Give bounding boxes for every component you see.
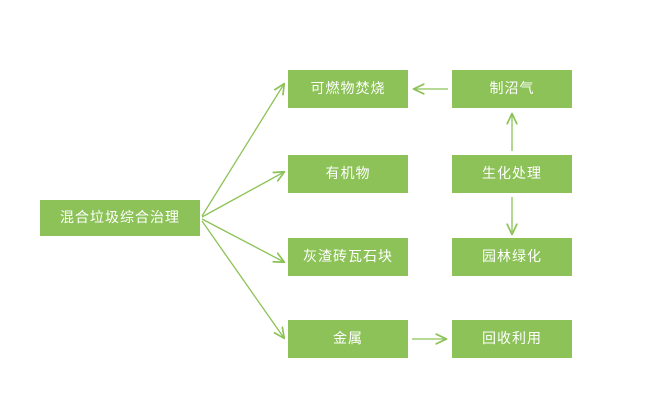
edge-root-to-combustible — [202, 84, 284, 216]
node-biogas-production[interactable]: 制沼气 — [452, 70, 572, 108]
node-recycling-reuse[interactable]: 回收利用 — [452, 320, 572, 358]
node-mixed-waste-treatment[interactable]: 混合垃圾综合治理 — [40, 200, 200, 236]
edge-root-to-ash-brick — [202, 219, 284, 262]
node-combustible-incineration[interactable]: 可燃物焚烧 — [288, 70, 408, 108]
node-ash-brick-tile-stone[interactable]: 灰渣砖瓦石块 — [288, 238, 408, 276]
edge-root-to-metal — [202, 221, 284, 338]
node-metal[interactable]: 金属 — [288, 320, 408, 358]
diagram-canvas: 混合垃圾综合治理 可燃物焚烧 制沼气 有机物 生化处理 灰渣砖瓦石块 园林绿化 … — [0, 0, 648, 416]
node-organic-matter[interactable]: 有机物 — [288, 155, 408, 193]
node-landscape-greening[interactable]: 园林绿化 — [452, 238, 572, 276]
node-biochemical-treatment[interactable]: 生化处理 — [452, 155, 572, 193]
edge-root-to-organic — [202, 172, 284, 217]
